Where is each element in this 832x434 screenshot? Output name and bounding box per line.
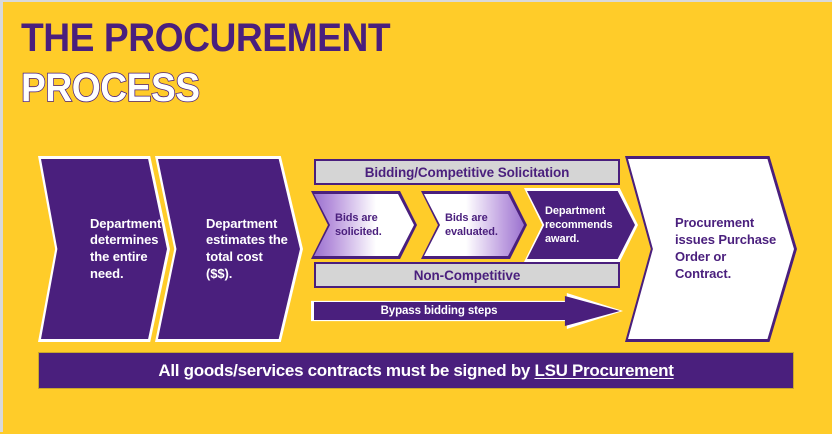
substep-3-label: Department recommends award. (545, 204, 623, 247)
competitive-track-header: Bidding/Competitive Solicitation (314, 159, 620, 185)
step-2-chevron: Department estimates the total cost ($$)… (158, 159, 300, 339)
title-line-secondary: PROCESS (21, 68, 746, 108)
footer-text: All goods/services contracts must be sig… (158, 361, 673, 381)
final-step-chevron: Procurement issues Purchase Order or Con… (628, 159, 794, 339)
bypass-arrow-label: Bypass bidding steps (314, 305, 564, 317)
footer-banner: All goods/services contracts must be sig… (38, 352, 794, 389)
footer-text-prefix: All goods/services contracts must be sig… (158, 361, 534, 380)
procurement-process-infographic: THE PROCUREMENT PROCESS Department deter… (0, 0, 832, 432)
substep-2-label: Bids are evaluated. (445, 211, 511, 240)
step-1-label: Department determines the entire need. (90, 216, 164, 283)
bypass-arrow-icon: Bypass bidding steps (314, 296, 620, 326)
step-2-label: Department estimates the total cost ($$)… (206, 216, 292, 283)
non-competitive-track-header: Non-Competitive (314, 262, 620, 288)
lsu-procurement-link[interactable]: LSU Procurement (534, 361, 673, 380)
page-title: THE PROCUREMENT PROCESS (21, 18, 801, 108)
step-1-chevron: Department determines the entire need. (41, 159, 167, 339)
substep-1-label: Bids are solicited. (335, 211, 399, 240)
final-step-label: Procurement issues Purchase Order or Con… (675, 215, 779, 283)
title-line-primary: THE PROCUREMENT (21, 18, 746, 58)
